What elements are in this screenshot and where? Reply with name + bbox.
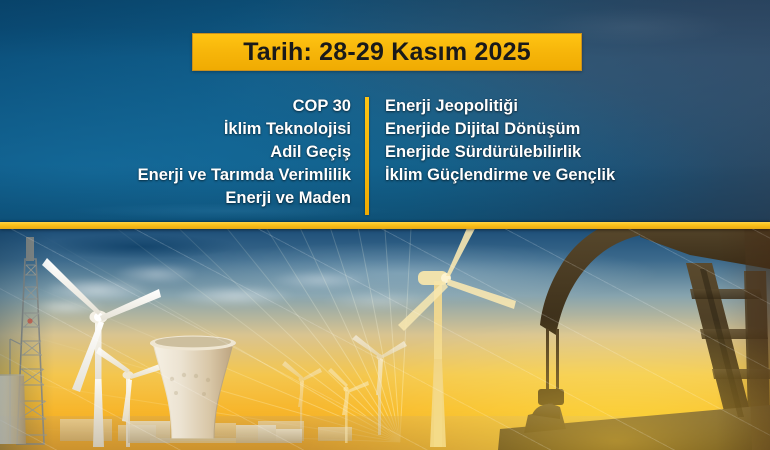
wind-turbine-foreground (398, 229, 516, 447)
storage-silo (0, 375, 26, 444)
gold-separator-bar (0, 222, 770, 229)
poster-root: Tarih: 28-29 Kasım 2025 COP 30 İklim Tek… (0, 0, 770, 450)
topics-section: COP 30 İklim Teknolojisi Adil Geçiş Ener… (0, 95, 770, 217)
topic-item: Enerjide Sürdürülebilirlik (385, 141, 581, 164)
topic-item: İklim Güçlendirme ve Gençlik (385, 164, 615, 187)
topic-item: İklim Teknolojisi (224, 118, 351, 141)
topics-left-column: COP 30 İklim Teknolojisi Adil Geçiş Ener… (85, 95, 365, 210)
topic-item: Enerji ve Maden (225, 187, 351, 210)
topic-item: Enerjide Dijital Dönüşüm (385, 118, 580, 141)
topic-item: Adil Geçiş (270, 141, 351, 164)
date-banner-label: Tarih: 28-29 Kasım 2025 (243, 40, 531, 65)
topic-item: COP 30 (293, 95, 351, 118)
oil-pumpjack (498, 229, 770, 450)
topic-item: Enerji ve Tarımda Verimlilik (138, 164, 351, 187)
scene-structures-front (0, 229, 770, 450)
energy-scene-photo (0, 229, 770, 450)
topics-right-column: Enerji Jeopolitiği Enerjide Dijital Dönü… (369, 95, 685, 187)
wind-turbine-small-right (328, 368, 369, 443)
topic-item: Enerji Jeopolitiği (385, 95, 518, 118)
date-banner: Tarih: 28-29 Kasım 2025 (192, 33, 582, 71)
